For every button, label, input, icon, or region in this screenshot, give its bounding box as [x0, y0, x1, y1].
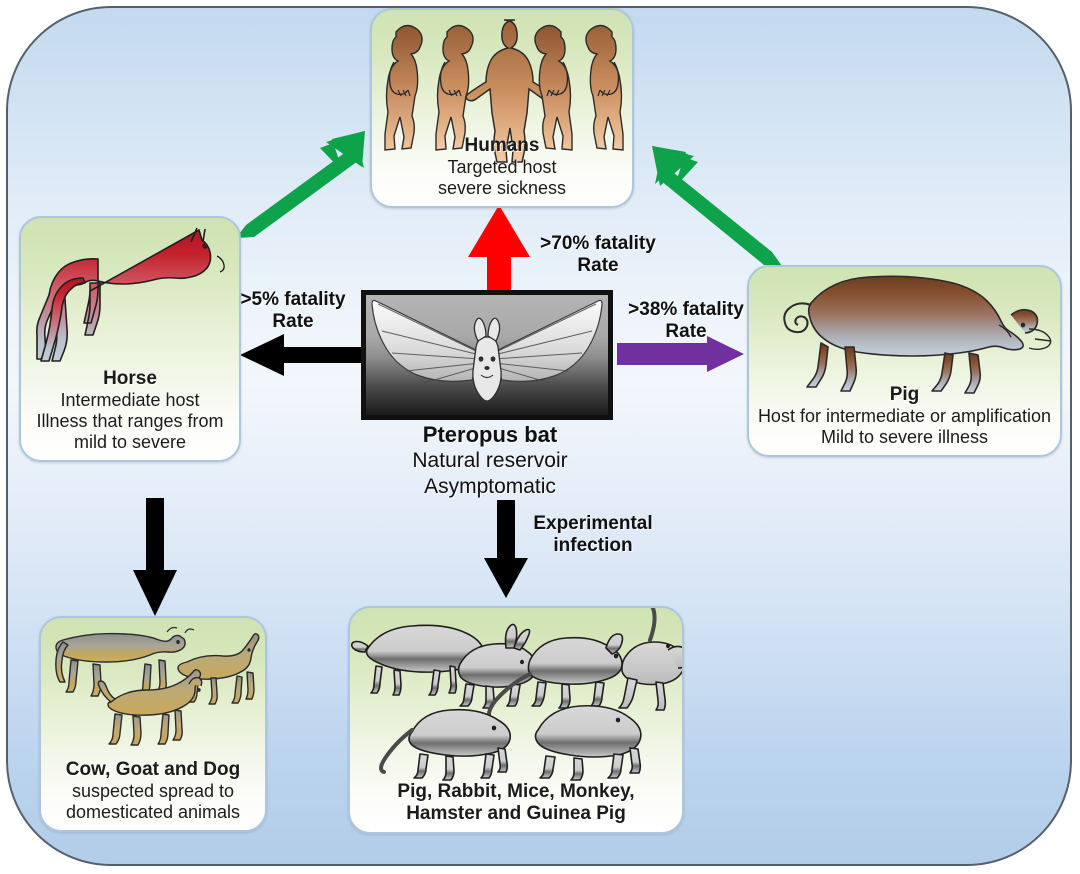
- humans-line-2: severe sickness: [372, 178, 632, 199]
- diagram-canvas: >70% fatality Rate >5% fatality Rate >38…: [0, 0, 1080, 874]
- bat-line-1: Natural reservoir: [330, 448, 650, 473]
- node-domestic-animals[interactable]: Cow, Goat and Dog suspected spread to do…: [39, 616, 267, 832]
- domestic-animals-caption: Cow, Goat and Dog suspected spread to do…: [41, 759, 265, 823]
- node-humans[interactable]: Humans Targeted host severe sickness: [370, 8, 634, 208]
- node-bat-image[interactable]: [361, 290, 613, 420]
- label-bat-to-lab-animals: Experimental infection: [518, 513, 668, 558]
- lab-animals-title: Pig, Rabbit, Mice, Monkey,: [350, 781, 682, 803]
- pig-caption: Pig Host for intermediate or amplificati…: [749, 384, 1060, 448]
- domestic-animals-title: Cow, Goat and Dog: [41, 759, 265, 781]
- bat-line-2: Asymptomatic: [330, 474, 650, 499]
- horse-illustration: [21, 218, 239, 366]
- humans-caption: Humans Targeted host severe sickness: [372, 135, 632, 199]
- horse-line-3: mild to severe: [21, 432, 239, 453]
- arrow-horse-to-domestic-animals: [133, 498, 177, 616]
- pig-illustration: [749, 267, 1060, 391]
- domestic-animals-line-1: suspected spread to: [41, 781, 265, 802]
- pig-line-2: Mild to severe illness: [749, 427, 1060, 448]
- node-horse[interactable]: Horse Intermediate host Illness that ran…: [19, 216, 241, 462]
- arrow-horse-to-humans: [232, 126, 372, 242]
- domestic-animals-line-2: domesticated animals: [41, 802, 265, 823]
- domestic-animals-illustration: [41, 618, 265, 752]
- bat-caption: Pteropus bat Natural reservoir Asymptoma…: [330, 422, 650, 499]
- lab-animals-line-1: Hamster and Guinea Pig: [350, 803, 682, 825]
- label-bat-to-humans-fatality: >70% fatality Rate: [500, 233, 696, 278]
- lab-animals-caption: Pig, Rabbit, Mice, Monkey, Hamster and G…: [350, 781, 682, 825]
- horse-title: Horse: [21, 368, 239, 390]
- pig-title: Pig: [749, 384, 1060, 406]
- arrow-bat-to-horse: [240, 334, 364, 376]
- label-bat-to-pig-fatality: >38% fatality Rate: [612, 299, 760, 344]
- humans-line-1: Targeted host: [372, 157, 632, 178]
- horse-line-1: Intermediate host: [21, 390, 239, 411]
- lab-animals-illustration: [350, 608, 682, 772]
- pig-line-1: Host for intermediate or amplification: [749, 406, 1060, 427]
- bat-title: Pteropus bat: [330, 422, 650, 448]
- node-lab-animals[interactable]: Pig, Rabbit, Mice, Monkey, Hamster and G…: [348, 606, 684, 834]
- humans-title: Humans: [372, 135, 632, 157]
- horse-caption: Horse Intermediate host Illness that ran…: [21, 368, 239, 453]
- humans-illustration: [372, 10, 632, 146]
- horse-line-2: Illness that ranges from: [21, 411, 239, 432]
- node-pig[interactable]: Pig Host for intermediate or amplificati…: [747, 265, 1062, 457]
